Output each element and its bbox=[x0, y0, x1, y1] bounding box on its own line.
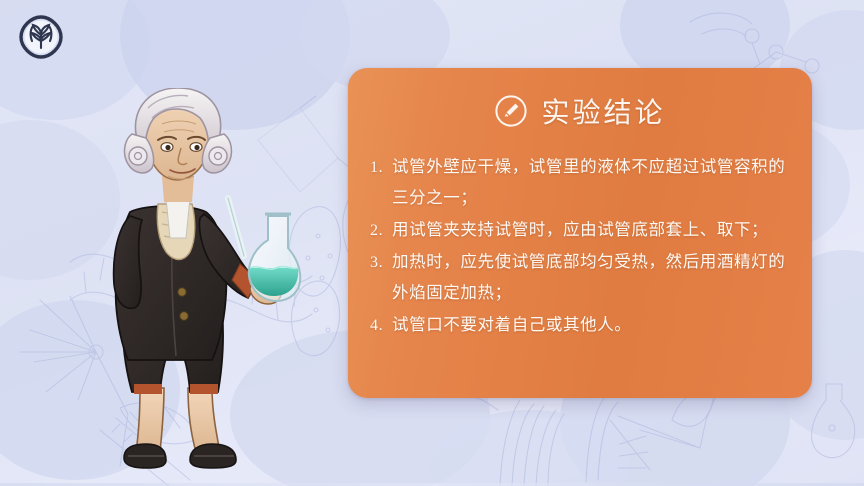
card-title: 实验结论 bbox=[541, 91, 665, 131]
list-item: 2. 用试管夹夹持试管时，应由试管底部套上、取下； bbox=[370, 215, 786, 246]
card-header: 实验结论 bbox=[348, 68, 812, 148]
list-item: 3. 加热时，应先使试管底部均匀受热，然后用酒精灯的外焰固定加热； bbox=[370, 247, 786, 309]
slide-stage: 实验结论 1. 试管外壁应干燥，试管里的液体不应超过试管容积的三分之一； 2. … bbox=[0, 0, 864, 486]
list-item-text: 用试管夹夹持试管时，应由试管底部套上、取下； bbox=[392, 215, 786, 246]
list-item-text: 试管口不要对着自己或其他人。 bbox=[392, 310, 786, 341]
list-item: 4. 试管口不要对着自己或其他人。 bbox=[370, 310, 786, 341]
school-emblem-logo bbox=[18, 14, 64, 60]
list-item-index: 3. bbox=[370, 247, 392, 278]
conclusion-list: 1. 试管外壁应干燥，试管里的液体不应超过试管容积的三分之一； 2. 用试管夹夹… bbox=[370, 152, 786, 341]
card-body: 1. 试管外壁应干燥，试管里的液体不应超过试管容积的三分之一； 2. 用试管夹夹… bbox=[348, 148, 812, 341]
list-item-index: 4. bbox=[370, 310, 392, 341]
list-item: 1. 试管外壁应干燥，试管里的液体不应超过试管容积的三分之一； bbox=[370, 152, 786, 214]
list-item-index: 1. bbox=[370, 152, 392, 183]
conclusion-card: 实验结论 1. 试管外壁应干燥，试管里的液体不应超过试管容积的三分之一； 2. … bbox=[348, 68, 812, 398]
list-item-index: 2. bbox=[370, 215, 392, 246]
pencil-in-circle-icon bbox=[494, 94, 528, 128]
list-item-text: 加热时，应先使试管底部均匀受热，然后用酒精灯的外焰固定加热； bbox=[392, 247, 786, 309]
scientist-illustration bbox=[62, 88, 302, 470]
list-item-text: 试管外壁应干燥，试管里的液体不应超过试管容积的三分之一； bbox=[392, 152, 786, 214]
